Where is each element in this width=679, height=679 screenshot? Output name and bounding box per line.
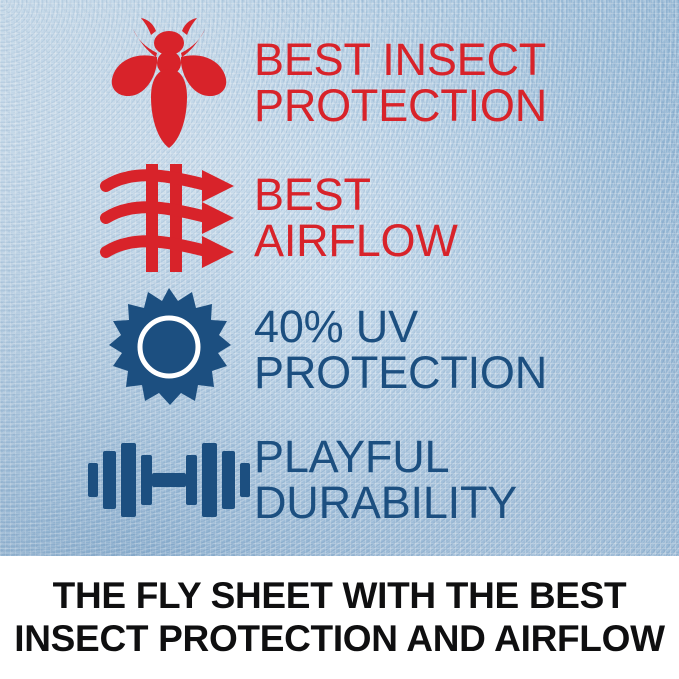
sun-uv-icon: [84, 288, 254, 412]
feature-label-line: DURABILITY: [254, 480, 644, 526]
feature-label-uv-protection: 40% UV PROTECTION: [254, 304, 644, 396]
feature-label-line: AIRFLOW: [254, 218, 644, 264]
feature-row-uv-protection: 40% UV PROTECTION: [84, 285, 644, 415]
feature-row-airflow: BEST AIRFLOW: [84, 155, 644, 280]
banner-line: THE FLY SHEET WITH THE BEST: [53, 575, 627, 617]
airflow-arrows-icon: [84, 162, 254, 274]
feature-label-line: BEST INSECT: [254, 37, 644, 83]
feature-row-insect-protection: BEST INSECT PROTECTION: [84, 14, 644, 152]
feature-label-durability: PLAYFUL DURABILITY: [254, 434, 644, 526]
fly-insect-icon: [84, 17, 254, 149]
feature-label-line: PROTECTION: [254, 350, 644, 396]
product-feature-poster: BEST INSECT PROTECTION: [0, 0, 679, 679]
feature-row-durability: PLAYFUL DURABILITY: [84, 420, 644, 540]
feature-label-line: 40% UV: [254, 304, 644, 350]
bottom-banner: THE FLY SHEET WITH THE BEST INSECT PROTE…: [0, 556, 679, 679]
feature-list: BEST INSECT PROTECTION: [0, 0, 679, 556]
feature-label-line: PROTECTION: [254, 83, 644, 129]
feature-label-line: BEST: [254, 172, 644, 218]
feature-label-insect-protection: BEST INSECT PROTECTION: [254, 37, 644, 129]
banner-line: INSECT PROTECTION AND AIRFLOW: [14, 618, 664, 660]
dumbbell-durability-icon: [84, 441, 254, 519]
feature-label-line: PLAYFUL: [254, 434, 644, 480]
feature-label-airflow: BEST AIRFLOW: [254, 172, 644, 264]
